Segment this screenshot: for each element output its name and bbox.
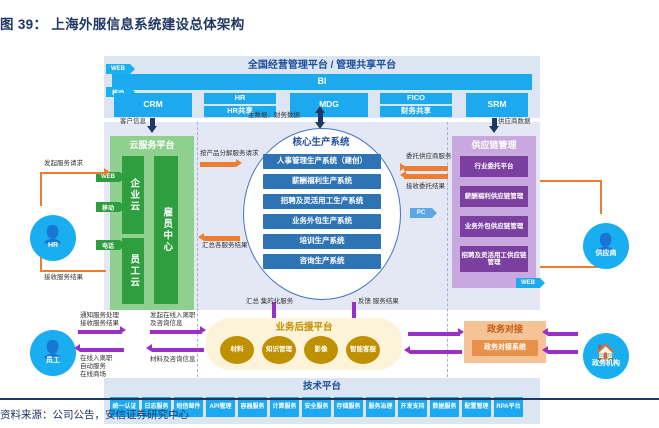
footer-rule	[0, 398, 659, 400]
flow-initiate-online-arrow	[200, 326, 206, 334]
source-note: 资料来源：公司公告，安信证券研究中心	[0, 404, 500, 424]
supply-chain-title: 供应链管理	[452, 139, 536, 153]
actor-supplier-circle[interactable]: 👤 供应商	[583, 223, 629, 269]
module-hr[interactable]: HR	[204, 93, 276, 104]
person-icon: 👤	[595, 235, 616, 250]
hr-result-line	[40, 270, 106, 272]
back-office-item-material[interactable]: 材料	[220, 336, 254, 364]
flow-decompose-label: 按产品分解服务请求	[200, 150, 259, 158]
actor-government-label: 政务机构	[592, 360, 620, 368]
flow-aggregate-label: 汇总 集的化服务	[246, 298, 293, 306]
tag-web-top: WEB	[106, 64, 130, 74]
cloud-column-enterprise[interactable]: 企业云	[122, 156, 144, 234]
flow-entrust-arrow	[400, 163, 406, 171]
flow-customer-info-arrow	[147, 126, 157, 133]
module-finance-shared[interactable]: 财务共享	[380, 106, 452, 117]
flow-material-consult-label: 材料及咨询信息	[150, 356, 196, 364]
flow-summary-label: 汇总各服务结果	[202, 242, 248, 250]
actor-government-circle[interactable]: 🏠 政务机构	[583, 333, 629, 379]
actor-government[interactable]: 🏠 政务机构	[578, 328, 634, 384]
flow-summary-line	[204, 236, 240, 241]
actor-supplier[interactable]: 👤 供应商	[578, 218, 634, 274]
supply-item-industry-platform[interactable]: 行业委托平台	[460, 156, 528, 177]
supply-item-compensation[interactable]: 薪酬福利供应链管理	[460, 186, 528, 207]
cloud-platform-title: 云服务平台	[110, 139, 194, 153]
flow-gov-out-arrow	[404, 346, 410, 354]
staff-notify-line	[78, 330, 122, 334]
tag-telephone-cloud: 电话	[96, 240, 120, 250]
cloud-column-employee[interactable]: 员工云	[122, 238, 144, 304]
gov-in-line	[548, 332, 578, 336]
flow-material-consult-line	[152, 348, 204, 352]
top-platform-title: 全国经营管理平台 / 管理共享平台	[104, 58, 540, 72]
flow-receive-entrust-label: 接收委托结果	[406, 183, 445, 191]
government-docking-title: 政务对接	[464, 323, 546, 336]
flow-summary-arrow	[198, 233, 204, 241]
actor-hr-label: HR	[48, 242, 58, 250]
flow-supplier-data-arrow	[489, 126, 499, 133]
flow-initiate-online-label: 发起在线入离职 及咨询信息	[150, 312, 196, 328]
back-office-item-knowledge[interactable]: 知识管理	[262, 336, 296, 364]
back-office-title: 业务后援平台	[206, 321, 402, 335]
flow-supplier-data-label: 供应商数据	[498, 118, 531, 126]
hr-request-label: 发起服务请求	[44, 160, 83, 168]
tag-pc: PC	[410, 208, 432, 218]
hr-request-line	[40, 172, 106, 174]
flow-gov-out-line	[410, 350, 462, 354]
core-item-recruitment[interactable]: 招聘及灵活用工生产系统	[263, 194, 381, 209]
flow-gov-in-line	[408, 332, 460, 336]
flow-decompose-line	[200, 162, 236, 167]
actor-hr-circle[interactable]: 👤 HR	[30, 215, 76, 261]
core-item-training[interactable]: 培训生产系统	[263, 234, 381, 249]
flow-decompose-arrow	[236, 159, 242, 167]
flow-feedback-label: 反馈 服务结果	[358, 298, 399, 306]
staff-online-line	[80, 348, 124, 352]
bi-bar[interactable]: BI	[112, 74, 532, 90]
flow-initiate-online-line	[150, 330, 202, 334]
government-docking-system[interactable]: 政务对接系统	[472, 340, 538, 356]
flow-gov-in-arrow	[458, 328, 464, 336]
flow-feedback-line	[352, 302, 356, 318]
staff-notify-label: 通知服务处理	[80, 312, 119, 320]
actor-staff-circle[interactable]: 👤 员工	[30, 330, 76, 376]
flow-material-consult-arrow	[146, 344, 152, 352]
hr-request-arrow	[104, 168, 110, 176]
figure-title: 图 39： 上海外服信息系统建设总体架构	[0, 12, 640, 34]
person-icon: 👤	[42, 227, 63, 242]
flow-receive-entrust-line	[404, 174, 448, 179]
actor-hr[interactable]: 👤 HR	[25, 210, 81, 266]
supplier-in-drop	[600, 180, 602, 214]
flow-customer-info-label: 客户信息	[120, 118, 146, 126]
tag-mobile-cloud: 移动	[96, 202, 120, 212]
staff-notify-arrow	[120, 326, 126, 334]
supply-item-recruitment[interactable]: 招聘及灵活用工供应链管理	[460, 246, 528, 272]
actor-supplier-label: 供应商	[596, 250, 617, 258]
tag-web-supply: WEB	[516, 278, 540, 288]
core-item-consulting[interactable]: 咨询生产系统	[263, 254, 381, 269]
core-system-title: 核心生产系统	[243, 136, 399, 150]
house-icon: 🏠	[595, 345, 616, 360]
architecture-diagram: 全国经营管理平台 / 管理共享平台 BI WEB 移动 CRM HR HR共享 …	[0, 40, 659, 395]
supply-item-outsourcing[interactable]: 业务外包供应链管理	[460, 216, 528, 237]
core-item-compensation[interactable]: 薪酬福利生产系统	[263, 174, 381, 189]
flow-master-data-arrow-up	[315, 106, 325, 113]
supplier-in-line	[540, 180, 602, 182]
flow-entrust-label: 委托供应商服务	[406, 153, 452, 161]
tech-platform-title: 技术平台	[104, 380, 540, 394]
flow-entrust-line	[404, 166, 448, 171]
actor-staff[interactable]: 👤 员工	[25, 325, 81, 381]
module-mdg[interactable]: MDG	[290, 93, 368, 117]
module-srm[interactable]: SRM	[466, 93, 528, 117]
gov-out-line	[548, 350, 578, 354]
back-office-item-smart-service[interactable]: 智能客服	[346, 336, 380, 364]
hr-result-label: 接收服务结果	[44, 274, 83, 282]
staff-result-label: 接收服务结果	[80, 320, 119, 328]
gov-out-arrow	[542, 346, 548, 354]
actor-staff-label: 员工	[46, 357, 60, 365]
hr-request-drop	[40, 172, 42, 206]
core-item-outsourcing[interactable]: 业务外包生产系统	[263, 214, 381, 229]
flow-receive-entrust-arrow	[400, 171, 406, 179]
gov-in-arrow	[542, 328, 548, 336]
module-crm[interactable]: CRM	[114, 93, 192, 117]
module-fico[interactable]: FICO	[380, 93, 452, 104]
divider-left	[197, 122, 198, 377]
flow-master-data-label: 主数据、财务数据	[248, 112, 300, 120]
staff-online-label: 在线入离职 自动服务 在线商场	[80, 355, 113, 379]
person-icon: 👤	[42, 342, 63, 357]
core-item-hr-management[interactable]: 人事管理生产系统（建创）	[263, 154, 381, 169]
back-office-item-imaging[interactable]: 影像	[304, 336, 338, 364]
cloud-column-employee-center[interactable]: 雇员中心	[154, 156, 178, 304]
